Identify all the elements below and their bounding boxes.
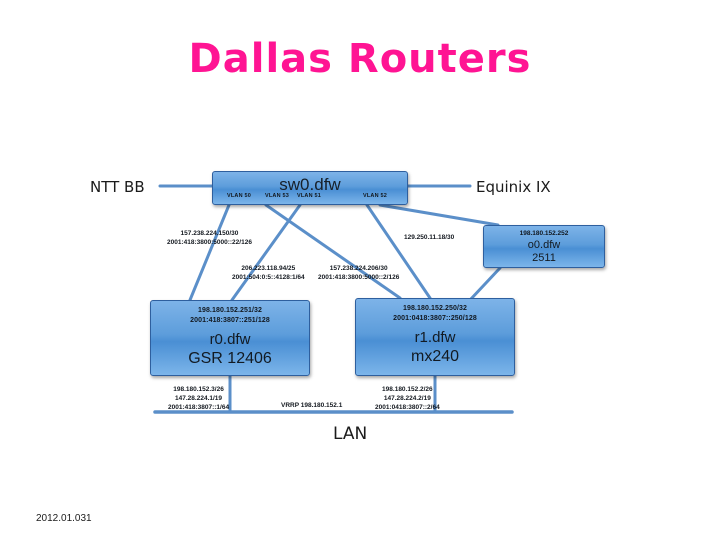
- link-vlan52-to-r1: [367, 205, 430, 298]
- link-label-peering: 206.223.118.94/25 2001:504:0:5::4128:1/6…: [232, 264, 305, 282]
- node-console-o0[interactable]: 198.180.152.252 o0.dfw 2511: [483, 225, 605, 268]
- vlan-label-52: VLAN 52: [363, 193, 387, 199]
- label-lan: LAN: [333, 424, 367, 444]
- link-label-equinix: 157.238.224.206/30 2001:418:3800:5000::2…: [318, 264, 399, 282]
- label-equinix-ix: Equinix IX: [476, 178, 551, 196]
- link-label-lan-left: 198.180.152.3/26 147.28.224.1/19 2001:41…: [168, 385, 229, 412]
- link-label-ntt: 157.238.224.150/30 2001:418:3800:5000::2…: [167, 229, 252, 247]
- r1-hostname: r1.dfw: [356, 323, 514, 347]
- equinix-v4: 157.238.224.206/30: [318, 264, 399, 273]
- o0-hostname: o0.dfw: [484, 238, 604, 252]
- lan-right-v4b: 147.28.224.2/19: [375, 394, 440, 403]
- r1-loopbacks: 198.180.152.250/32 2001:0418:3807::250/1…: [356, 299, 514, 323]
- ntt-v4: 157.238.224.150/30: [167, 229, 252, 238]
- lan-left-v4b: 147.28.224.1/19: [168, 394, 229, 403]
- peer-v6: 2001:504:0:5::4128:1/64: [232, 273, 305, 282]
- link-switch-to-oob: [380, 205, 498, 225]
- equinix-v6: 2001:418:3800:5000::2/126: [318, 273, 399, 282]
- o0-ip: 198.180.152.252: [484, 226, 604, 238]
- lan-right-v4: 198.180.152.2/26: [375, 385, 440, 394]
- vlan-port-row: VLAN 50 VLAN 53 VLAN 51 VLAN 52: [213, 193, 407, 205]
- node-router-r0[interactable]: 198.180.152.251/32 2001:418:3807::251/12…: [150, 300, 310, 376]
- link-label-lan-right: 198.180.152.2/26 147.28.224.2/19 2001:04…: [375, 385, 440, 412]
- link-oob-to-r1: [470, 268, 500, 300]
- link-label-vrrp: VRRP 198.180.152.1: [281, 401, 342, 410]
- r0-loopback-v6: 2001:418:3807::251/128: [151, 316, 309, 326]
- oob-v4: 129.250.11.18/30: [404, 233, 454, 242]
- vlan-label-50: VLAN 50: [227, 193, 251, 199]
- label-ntt-bb: NTT BB: [90, 178, 145, 196]
- r1-loopback-v6: 2001:0418:3807::250/128: [356, 314, 514, 324]
- lan-left-v6: 2001:418:3807::1/64: [168, 403, 229, 412]
- peer-v4: 206.223.118.94/25: [232, 264, 305, 273]
- r0-hostname: r0.dfw: [151, 325, 309, 349]
- r1-model: mx240: [356, 347, 514, 367]
- r0-loopback-v4: 198.180.152.251/32: [151, 306, 309, 316]
- link-vlan53-to-r1: [266, 205, 400, 298]
- r0-model: GSR 12406: [151, 349, 309, 369]
- slide-canvas: Dallas Routers NTT B: [0, 0, 720, 540]
- link-label-oob: 129.250.11.18/30: [404, 233, 454, 242]
- vlan-label-53: VLAN 53: [265, 193, 289, 199]
- ntt-v6: 2001:418:3800:5000::22/126: [167, 238, 252, 247]
- node-switch-sw0[interactable]: sw0.dfw VLAN 50 VLAN 53 VLAN 51 VLAN 52: [212, 171, 408, 205]
- r0-loopbacks: 198.180.152.251/32 2001:418:3807::251/12…: [151, 301, 309, 325]
- r1-loopback-v4: 198.180.152.250/32: [356, 304, 514, 314]
- footer-date: 2012.01.031: [36, 513, 92, 524]
- link-vlan51-to-r0: [232, 205, 300, 300]
- o0-model: 2511: [484, 252, 604, 265]
- switch-hostname: sw0.dfw: [213, 172, 407, 194]
- vlan-label-51: VLAN 51: [297, 193, 321, 199]
- lan-right-v6: 2001:0418:3807::2/64: [375, 403, 440, 412]
- lan-left-v4: 198.180.152.3/26: [168, 385, 229, 394]
- node-router-r1[interactable]: 198.180.152.250/32 2001:0418:3807::250/1…: [355, 298, 515, 376]
- link-vlan50-to-r0: [190, 205, 229, 300]
